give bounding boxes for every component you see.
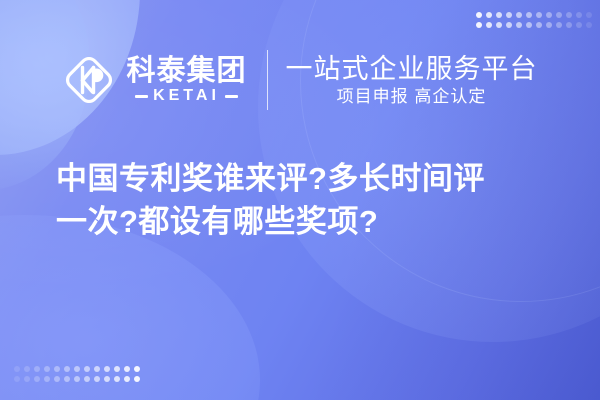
ketai-logo-icon <box>62 53 116 107</box>
decor-dot <box>94 376 100 382</box>
brand-wordmark: 科泰集团 KETAI <box>126 56 246 104</box>
decor-dot <box>506 22 512 28</box>
decor-dot <box>506 12 512 18</box>
decor-dot <box>64 366 70 372</box>
banner-header: 科泰集团 KETAI 一站式企业服务平台 项目申报 高企认定 <box>0 40 600 120</box>
decor-dot <box>94 366 100 372</box>
decor-dot <box>24 376 30 382</box>
decor-dot <box>114 366 120 372</box>
decor-dot <box>486 12 492 18</box>
decor-dot <box>124 376 130 382</box>
tagline-sub: 项目申报 高企认定 <box>337 87 487 106</box>
decor-dot <box>104 376 110 382</box>
decor-dot <box>84 376 90 382</box>
decor-dot <box>516 22 522 28</box>
dot-grid-bottom-left <box>14 366 140 382</box>
decor-dot <box>54 376 60 382</box>
decor-dot <box>526 22 532 28</box>
decor-dot <box>536 12 542 18</box>
header-divider <box>267 50 268 110</box>
decor-dot <box>486 22 492 28</box>
decor-dot <box>586 22 592 28</box>
decor-dot <box>44 366 50 372</box>
decor-dot <box>84 366 90 372</box>
decor-dot <box>536 22 542 28</box>
decor-dot <box>476 12 482 18</box>
decor-dot <box>124 366 130 372</box>
brand-name-en-row: KETAI <box>126 88 246 104</box>
decor-dot <box>516 12 522 18</box>
decor-dot <box>556 12 562 18</box>
decor-dot <box>526 12 532 18</box>
headline-line-2: 一次?都设有哪些奖项? <box>56 200 548 243</box>
decor-dot <box>586 12 592 18</box>
brand-rule-right-icon <box>225 95 238 98</box>
brand-lockup: 科泰集团 KETAI <box>62 53 246 107</box>
tagline-block: 一站式企业服务平台 项目申报 高企认定 <box>286 54 538 106</box>
brand-name-cn: 科泰集团 <box>126 56 246 86</box>
decor-dot <box>34 366 40 372</box>
decor-dot <box>44 376 50 382</box>
brand-rule-left-icon <box>135 95 148 98</box>
brand-name-en: KETAI <box>153 88 220 104</box>
decor-dot <box>14 366 20 372</box>
decor-dot <box>576 22 582 28</box>
decor-dot <box>566 12 572 18</box>
decor-dot <box>576 12 582 18</box>
decor-dot <box>74 376 80 382</box>
decor-dot <box>104 366 110 372</box>
decor-dot <box>566 22 572 28</box>
decor-dot <box>496 12 502 18</box>
decor-dot <box>74 366 80 372</box>
decor-dot <box>496 22 502 28</box>
decor-dot <box>556 22 562 28</box>
decor-dot <box>14 376 20 382</box>
decor-dot <box>134 376 140 382</box>
dot-grid-top-right <box>476 12 592 28</box>
decor-dot <box>54 366 60 372</box>
promo-banner: 科泰集团 KETAI 一站式企业服务平台 项目申报 高企认定 中国专利奖谁来评?… <box>0 0 600 400</box>
decor-dot <box>24 366 30 372</box>
decor-dot <box>64 376 70 382</box>
decor-dot <box>34 376 40 382</box>
decor-dot <box>546 12 552 18</box>
decor-dot <box>134 366 140 372</box>
decor-dot <box>114 376 120 382</box>
decor-dot <box>476 22 482 28</box>
headline: 中国专利奖谁来评?多长时间评 一次?都设有哪些奖项? <box>56 157 548 243</box>
headline-line-1: 中国专利奖谁来评?多长时间评 <box>56 157 548 200</box>
tagline-main: 一站式企业服务平台 <box>286 54 538 84</box>
decor-dot <box>546 22 552 28</box>
